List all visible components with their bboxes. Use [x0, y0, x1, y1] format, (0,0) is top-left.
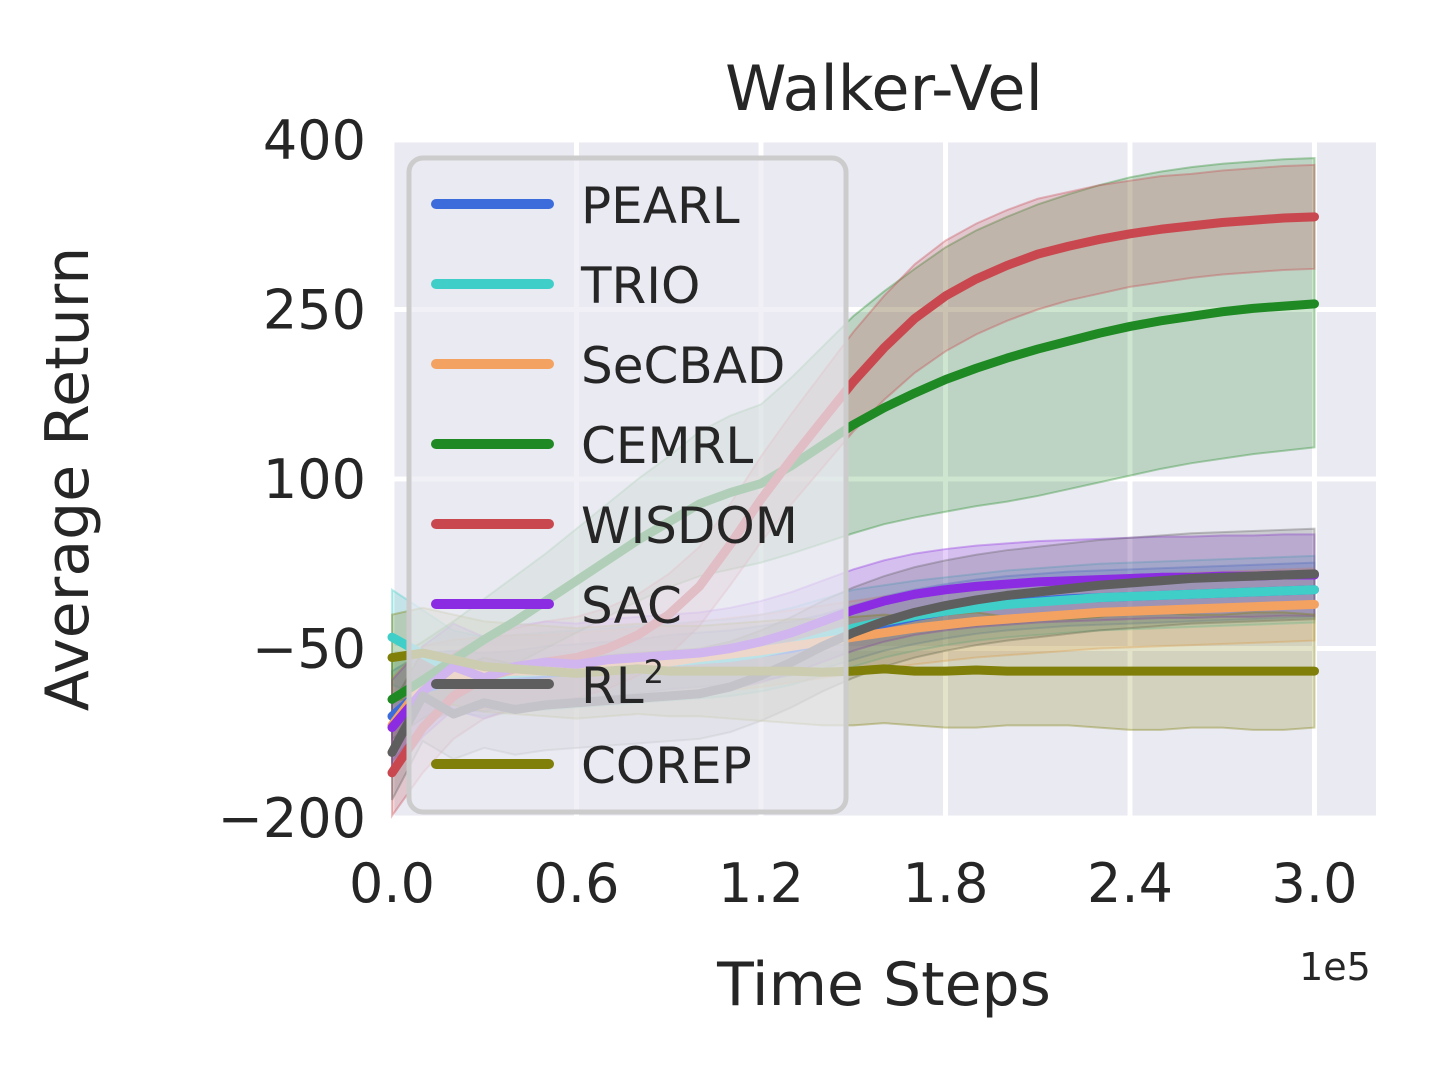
- x-tick-label: 1.8: [903, 852, 989, 915]
- legend-item-label: CEMRL: [581, 417, 753, 475]
- legend-item-label: PEARL: [581, 177, 740, 235]
- y-axis-label: Average Return: [33, 247, 103, 712]
- y-tick-label: 400: [263, 109, 366, 172]
- x-tick-label: 0.6: [534, 852, 620, 915]
- x-tick-label: 3.0: [1272, 852, 1358, 915]
- x-axis-offset-label: 1e5: [1299, 945, 1371, 989]
- x-tick-label: 0.0: [349, 852, 435, 915]
- legend-item-label: SeCBAD: [581, 337, 785, 395]
- legend-item-label: COREP: [581, 737, 752, 795]
- y-tick-label: 250: [263, 279, 366, 342]
- y-tick-label: 100: [263, 448, 366, 511]
- y-tick-label: −50: [252, 618, 366, 681]
- x-tick-label: 1.2: [718, 852, 804, 915]
- y-tick-label: −200: [218, 787, 366, 850]
- figure-container: 0.00.61.21.82.43.0 400250100−50−200 Walk…: [0, 0, 1440, 1080]
- x-tick-label: 2.4: [1087, 852, 1173, 915]
- legend[interactable]: PEARLTRIOSeCBADCEMRLWISDOMSACRL2COREP: [409, 158, 846, 812]
- x-axis-label: Time Steps: [716, 950, 1051, 1020]
- walker-vel-line-chart: 0.00.61.21.82.43.0 400250100−50−200 Walk…: [0, 0, 1440, 1080]
- legend-item-label: WISDOM: [581, 497, 798, 555]
- legend-item-superscript: 2: [644, 653, 664, 691]
- plot-title: Walker-Vel: [725, 52, 1043, 125]
- legend-item-label: TRIO: [580, 257, 700, 315]
- legend-item-label: SAC: [581, 577, 682, 635]
